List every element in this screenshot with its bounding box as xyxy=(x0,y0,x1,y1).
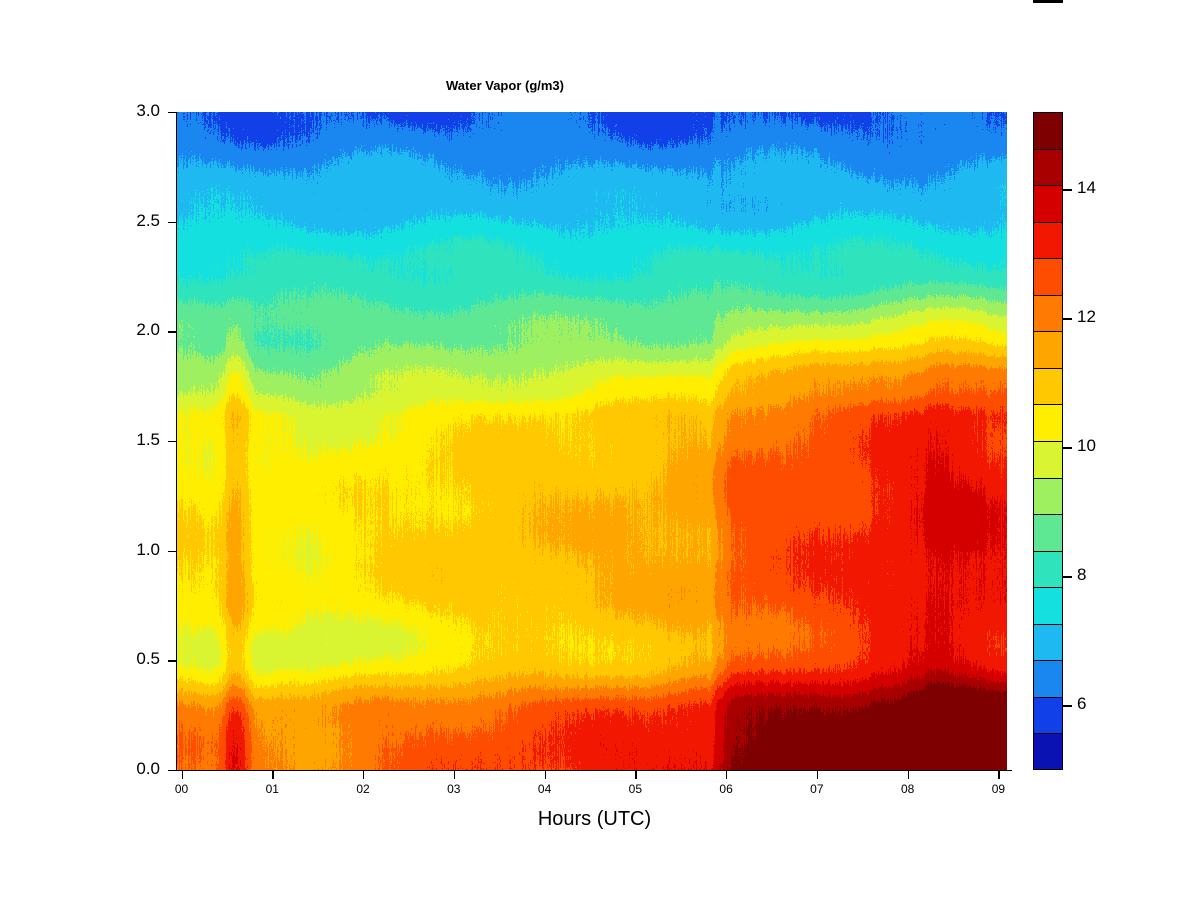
x-tick-label: 05 xyxy=(605,782,665,796)
y-tick-mark xyxy=(168,112,176,113)
x-axis-spine xyxy=(177,770,1012,771)
colorbar-band xyxy=(1033,441,1063,478)
y-tick-mark xyxy=(168,222,176,223)
y-tick-label: 0.5 xyxy=(40,649,160,669)
x-tick-label: 06 xyxy=(696,782,756,796)
colorbar xyxy=(1033,112,1063,770)
y-tick-mark xyxy=(168,331,176,332)
x-tick-label: 07 xyxy=(787,782,847,796)
colorbar-band xyxy=(1033,222,1063,259)
x-tick-mark xyxy=(182,771,183,779)
x-tick-mark xyxy=(363,771,364,779)
colorbar-tick-mark xyxy=(1063,576,1072,577)
y-tick-mark xyxy=(168,660,176,661)
x-tick-label: 01 xyxy=(242,782,302,796)
colorbar-tick-mark xyxy=(1063,705,1072,706)
colorbar-band xyxy=(1033,404,1063,441)
colorbar-band xyxy=(1033,478,1063,515)
x-tick-mark xyxy=(817,771,818,779)
x-tick-mark xyxy=(454,771,455,779)
colorbar-tick-label: 8 xyxy=(1077,565,1086,585)
colorbar-band xyxy=(1033,185,1063,222)
colorbar-band xyxy=(1033,660,1063,697)
colorbar-tick-label: 10 xyxy=(1077,436,1096,456)
x-tick-mark xyxy=(272,771,273,779)
x-tick-mark xyxy=(908,771,909,779)
heatmap-canvas xyxy=(177,112,1012,770)
y-tick-label: 1.0 xyxy=(40,540,160,560)
colorbar-band xyxy=(1033,514,1063,551)
x-axis-title: Hours (UTC) xyxy=(177,808,1012,831)
colorbar-band xyxy=(1033,112,1063,149)
x-tick-mark xyxy=(635,771,636,779)
x-tick-mark xyxy=(545,771,546,779)
colorbar-tick-label: 6 xyxy=(1077,694,1086,714)
colorbar-band xyxy=(1033,624,1063,661)
colorbar-band xyxy=(1033,368,1063,405)
colorbar-tick-mark xyxy=(1063,318,1072,319)
colorbar-tick-mark xyxy=(1063,189,1072,190)
colorbar-band xyxy=(1033,149,1063,186)
colorbar-tick-label: 12 xyxy=(1077,307,1096,327)
colorbar-tick-mark xyxy=(1063,447,1072,448)
y-tick-mark xyxy=(168,770,176,771)
colorbar-band xyxy=(1033,551,1063,588)
colorbar-tick-label: 14 xyxy=(1077,178,1096,198)
colorbar-band xyxy=(1033,258,1063,295)
heatmap-plot-area xyxy=(177,112,1012,770)
x-tick-label: 00 xyxy=(152,782,212,796)
colorbar-band xyxy=(1033,331,1063,368)
y-tick-label: 2.5 xyxy=(40,211,160,231)
page-title: Water Vapor (g/m3) xyxy=(0,78,1010,93)
colorbar-band xyxy=(1033,587,1063,624)
x-tick-mark xyxy=(998,771,999,779)
y-tick-mark xyxy=(168,551,176,552)
y-axis-spine xyxy=(176,112,177,771)
y-tick-mark xyxy=(168,441,176,442)
x-tick-label: 04 xyxy=(515,782,575,796)
y-tick-label: 2.0 xyxy=(40,320,160,340)
y-tick-label: 1.5 xyxy=(40,430,160,450)
x-tick-mark xyxy=(726,771,727,779)
colorbar-band xyxy=(1033,697,1063,734)
x-tick-label: 09 xyxy=(968,782,1028,796)
colorbar-band xyxy=(1033,295,1063,332)
x-tick-label: 08 xyxy=(878,782,938,796)
x-tick-label: 03 xyxy=(424,782,484,796)
y-tick-label: 3.0 xyxy=(40,101,160,121)
top-edge-artifact xyxy=(1033,0,1063,3)
y-tick-label: 0.0 xyxy=(40,759,160,779)
colorbar-band xyxy=(1033,733,1063,770)
x-tick-label: 02 xyxy=(333,782,393,796)
